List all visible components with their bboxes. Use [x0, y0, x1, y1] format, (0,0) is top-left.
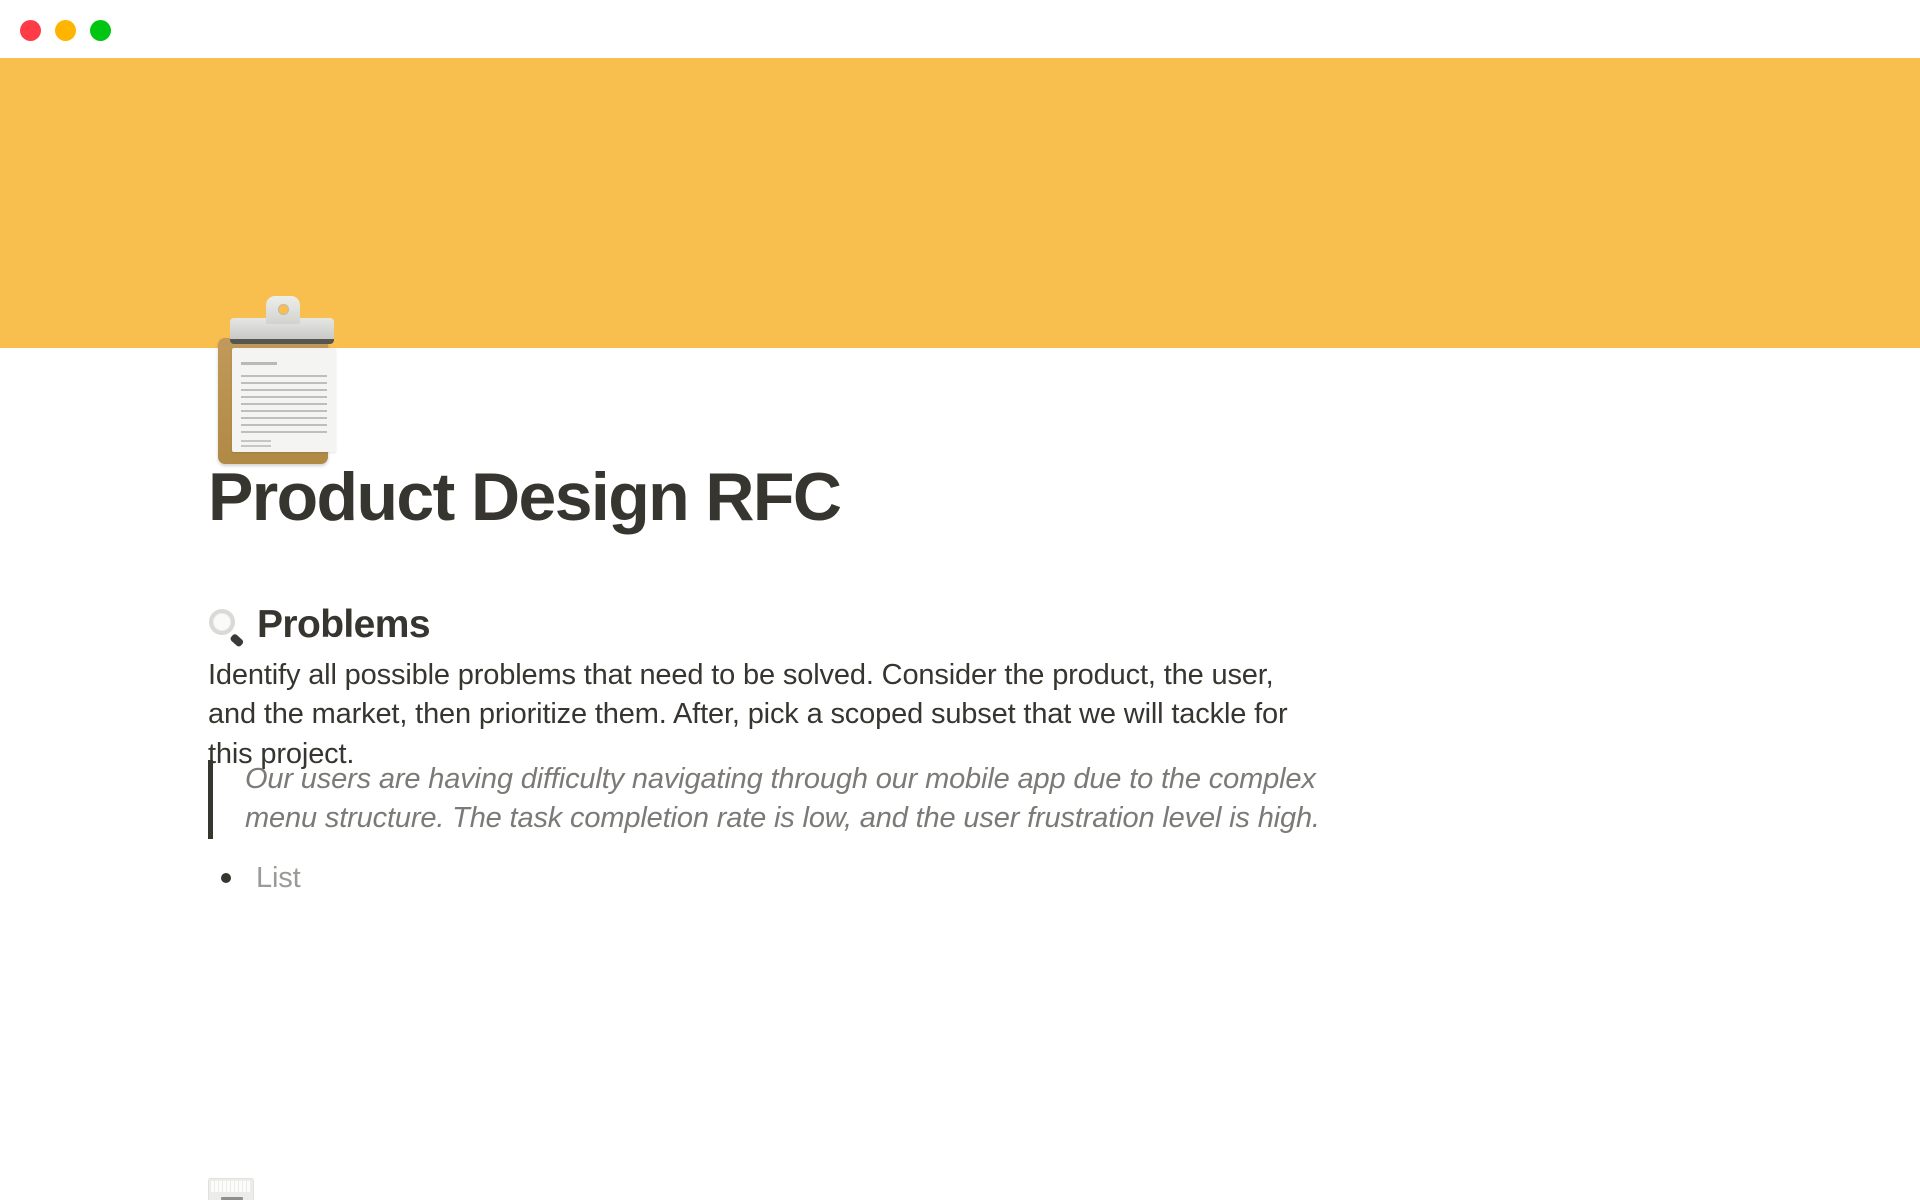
- keyboard-keys: [211, 1181, 251, 1192]
- minimize-window-button[interactable]: [55, 20, 76, 41]
- magnifying-glass-icon: [208, 608, 246, 646]
- traffic-light-controls: [20, 20, 111, 41]
- zoom-window-button[interactable]: [90, 20, 111, 41]
- section-heading-problems[interactable]: Problems: [208, 603, 1708, 647]
- clipboard-paper: [232, 348, 336, 452]
- window-titlebar: [0, 0, 1920, 58]
- magnifier-lens: [209, 609, 235, 635]
- bottom-partial-block[interactable]: [208, 1178, 308, 1200]
- clipboard-clip-hole: [278, 304, 289, 315]
- magnifier-handle: [229, 633, 244, 648]
- bulleted-list: List: [208, 858, 1348, 899]
- section-blockquote[interactable]: Our users are having difficulty navigati…: [208, 760, 1348, 839]
- section-heading-label: Problems: [257, 603, 430, 647]
- section-paragraph[interactable]: Identify all possible problems that need…: [208, 656, 1328, 774]
- clipboard-icon[interactable]: [210, 272, 330, 400]
- close-window-button[interactable]: [20, 20, 41, 41]
- list-item[interactable]: List: [208, 858, 1348, 899]
- clipboard-signature: [241, 440, 271, 442]
- page-title[interactable]: Product Design RFC: [208, 463, 1708, 532]
- document-body: Product Design RFC Problems Identify all…: [0, 58, 1920, 1200]
- app-window: Product Design RFC Problems Identify all…: [0, 0, 1920, 1200]
- clipboard-text-lines: [241, 375, 327, 437]
- keyboard-icon: [208, 1178, 254, 1200]
